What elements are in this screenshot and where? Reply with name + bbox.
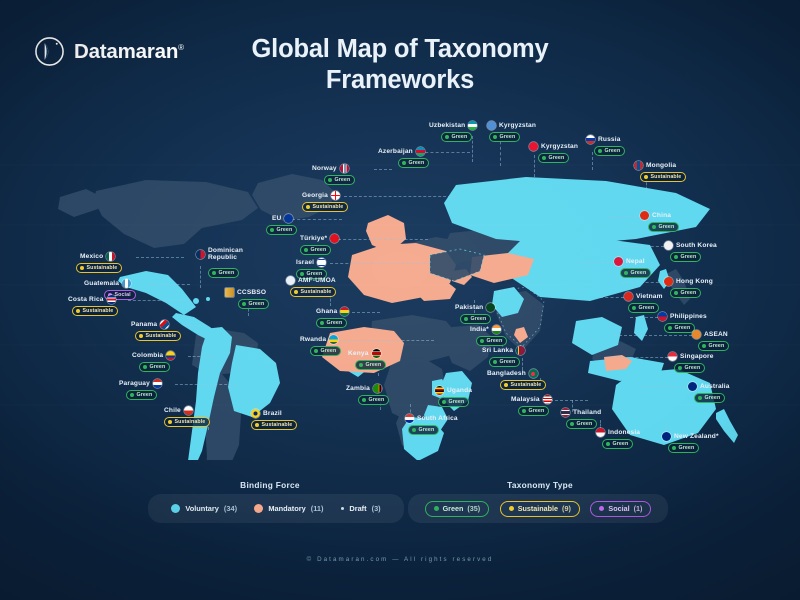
legend-item-green[interactable]: Green (35)	[425, 501, 490, 517]
leader-line	[614, 335, 692, 336]
marker-turkiye[interactable]: Türkiye*	[300, 234, 339, 243]
voluntary-swatch-icon	[171, 504, 180, 513]
tag-green: Green	[538, 153, 569, 163]
norway-flag	[340, 164, 349, 173]
tag-green: Green	[489, 357, 520, 367]
singapore-flag	[668, 352, 677, 361]
marker-label: CCSBSO	[237, 289, 266, 296]
marker-israel[interactable]: Israel	[296, 258, 326, 267]
marker-sri-lanka[interactable]: Sri Lanka	[482, 346, 525, 355]
tag-green: Green	[126, 390, 157, 400]
marker-malaysia[interactable]: Malaysia	[511, 395, 552, 404]
marker-label: Philippines	[670, 313, 707, 320]
marker-mexico[interactable]: Mexico	[80, 252, 115, 261]
marker-bangladesh[interactable]: Bangladesh	[487, 369, 538, 378]
tag-green: Green	[698, 341, 729, 351]
australia-flag	[688, 382, 697, 391]
bangladesh-flag	[529, 369, 538, 378]
tag-green: Green	[300, 245, 331, 255]
marker-label: Mexico	[80, 253, 103, 260]
mexico-flag	[106, 252, 115, 261]
tag-green: Green	[668, 443, 699, 453]
marker-australia[interactable]: Australia	[688, 382, 730, 391]
tag-sustainable: Sustainable	[251, 420, 297, 430]
marker-ccsbso[interactable]: CCSBSO	[225, 288, 266, 297]
legend-count: (35)	[467, 504, 480, 513]
legend-item-mandatory[interactable]: Mandatory (11)	[254, 504, 323, 513]
hong-kong-flag	[664, 277, 673, 286]
marker-label: Kyrgyzstan	[499, 122, 536, 129]
nepal-flag	[614, 257, 623, 266]
marker-label: South Korea	[676, 242, 717, 249]
leader-line	[534, 155, 535, 177]
tag-green: Green	[238, 299, 269, 309]
russia-flag	[586, 135, 595, 144]
mandatory-swatch-icon	[254, 504, 263, 513]
page-title-line1: Global Map of Taxonomy	[252, 35, 549, 63]
marker-label: Sri Lanka	[482, 347, 513, 354]
philippines-flag	[658, 312, 667, 321]
legend-item-draft[interactable]: Draft (3)	[341, 504, 381, 513]
marker-georgia[interactable]: Georgia	[302, 191, 340, 200]
marker-label: Costa Rica	[68, 296, 104, 303]
uzbekistan-flag	[468, 121, 477, 130]
leader-line	[338, 340, 434, 341]
marker-amf-umoa[interactable]: AMF-UMOA	[286, 276, 336, 285]
legend-label: Voluntary	[185, 504, 219, 513]
legend-label: Social	[608, 504, 629, 513]
legend-binding-force: Voluntary (34) Mandatory (11) Draft (3)	[148, 494, 404, 523]
legend-label: Draft	[349, 504, 366, 513]
turkiye-flag	[330, 234, 339, 243]
marker-kyrgyzstan-2[interactable]: Kyrgyzstan	[529, 142, 578, 151]
leader-line	[150, 284, 190, 285]
south-africa-flag	[405, 414, 414, 423]
leader-line	[620, 282, 664, 283]
leader-line	[472, 136, 473, 162]
marker-label: Rwanda	[300, 336, 326, 343]
israel-flag	[317, 258, 326, 267]
tag-green: Green	[139, 362, 170, 372]
leader-line	[330, 263, 430, 264]
marker-vietnam[interactable]: Vietnam	[624, 292, 663, 301]
leader-line	[630, 317, 658, 318]
china-flag	[640, 211, 649, 220]
leader-line	[374, 169, 392, 170]
marker-chile[interactable]: Chile	[164, 406, 193, 415]
legend-item-voluntary[interactable]: Voluntary (34)	[171, 504, 237, 513]
marker-mongolia[interactable]: Mongolia	[634, 161, 676, 170]
tag-green: Green	[594, 146, 625, 156]
marker-label: Guatemala	[84, 280, 119, 287]
marker-paraguay[interactable]: Paraguay	[119, 379, 162, 388]
leader-line	[592, 152, 593, 170]
tag-sustainable: Sustainable	[76, 263, 122, 273]
sri-lanka-flag	[516, 346, 525, 355]
marker-brazil[interactable]: Brazil	[251, 409, 282, 418]
marker-zambia[interactable]: Zambia	[346, 384, 382, 393]
thailand-flag	[561, 408, 570, 417]
marker-label: Mongolia	[646, 162, 676, 169]
chile-flag	[184, 406, 193, 415]
marker-label: Dominican Republic	[208, 248, 254, 262]
marker-label: Uzbekistan	[429, 122, 465, 129]
tag-sustainable: Sustainable	[302, 202, 348, 212]
footer-copyright: © Datamaran.com — All rights reserved	[0, 556, 800, 563]
leader-line	[344, 196, 456, 197]
marker-india[interactable]: India*	[470, 325, 501, 334]
asean-logo	[692, 330, 701, 339]
marker-label: Australia	[700, 383, 730, 390]
tag-green: Green	[358, 395, 389, 405]
legend-count: (11)	[311, 504, 324, 513]
marker-label: Zambia	[346, 385, 370, 392]
leader-line	[338, 239, 428, 240]
leader-line	[292, 219, 342, 220]
legend-label: Green	[443, 504, 464, 513]
marker-kyrgyzstan[interactable]: Kyrgyzstan	[487, 121, 536, 130]
legend-item-social[interactable]: Social (1)	[590, 501, 651, 517]
marker-ghana[interactable]: Ghana	[316, 307, 349, 316]
legend-label: Sustainable	[518, 504, 558, 513]
marker-label: Vietnam	[636, 293, 663, 300]
marker-new-zealand[interactable]: New Zealand*	[662, 432, 719, 441]
marker-guatemala[interactable]: Guatemala	[84, 279, 131, 288]
marker-label: Nepal	[626, 258, 645, 265]
legend-count: (34)	[224, 504, 237, 513]
kyrgyzstan-flag-2	[529, 142, 538, 151]
legend-taxonomy-type-heading: Taxonomy Type	[420, 480, 660, 490]
uganda-flag	[435, 386, 444, 395]
legend-taxonomy-type: Green (35) Sustainable (9) Social (1)	[408, 494, 668, 523]
leader-line	[550, 400, 588, 401]
kyrgyzstan-flag	[487, 121, 496, 130]
eu-flag	[284, 214, 293, 223]
costa-rica-flag	[107, 295, 116, 304]
marker-asean[interactable]: ASEAN	[692, 330, 728, 339]
marker-label: Norway	[312, 165, 337, 172]
indonesia-flag	[596, 428, 605, 437]
tag-green: Green	[460, 314, 491, 324]
amf-umoa-logo	[286, 276, 295, 285]
marker-eu[interactable]: EU	[272, 214, 293, 223]
marker-south-africa[interactable]: South Africa	[405, 414, 458, 423]
tag-sustainable: Sustainable	[640, 172, 686, 182]
poster-root: Datamaran® Global Map of Taxonomy Framew…	[0, 0, 800, 600]
leader-line	[620, 246, 664, 247]
marker-label: Kenya	[348, 350, 369, 357]
leader-line	[608, 216, 642, 217]
marker-uzbekistan[interactable]: Uzbekistan	[429, 121, 477, 130]
tag-green: Green	[438, 397, 469, 407]
tag-green: Green	[628, 303, 659, 313]
zambia-flag	[373, 384, 382, 393]
marker-label: Malaysia	[511, 396, 540, 403]
tag-green: Green	[208, 268, 239, 278]
tag-green: Green	[398, 158, 429, 168]
tag-sustainable: Sustainable	[500, 380, 546, 390]
ccsbso-logo	[225, 288, 234, 297]
marker-thailand[interactable]: Thailand	[561, 408, 601, 417]
tag-green: Green	[674, 363, 705, 373]
marker-azerbaijan[interactable]: Azerbaijan	[378, 147, 425, 156]
tag-green: Green	[355, 360, 386, 370]
marker-label: South Africa	[417, 415, 458, 422]
marker-label: Paraguay	[119, 380, 150, 387]
tag-green: Green	[489, 132, 520, 142]
marker-label: India*	[470, 326, 489, 333]
marker-nepal[interactable]: Nepal	[614, 257, 645, 266]
tag-green: Green	[266, 225, 297, 235]
marker-label: Pakistan	[455, 304, 483, 311]
green-swatch-icon	[434, 506, 439, 511]
paraguay-flag	[153, 379, 162, 388]
colombia-flag	[166, 351, 175, 360]
marker-indonesia[interactable]: Indonesia	[596, 428, 640, 437]
marker-label: EU	[272, 215, 281, 222]
marker-label: China	[652, 212, 671, 219]
leader-line	[600, 297, 624, 298]
marker-label: Ghana	[316, 308, 337, 315]
legend-label: Mandatory	[268, 504, 305, 513]
azerbaijan-flag	[416, 147, 425, 156]
ghana-flag	[340, 307, 349, 316]
brazil-flag	[251, 409, 260, 418]
marker-label: Georgia	[302, 192, 328, 199]
legend-binding-force-heading: Binding Force	[160, 480, 380, 490]
legend-count: (3)	[372, 504, 381, 513]
marker-label: Colombia	[132, 352, 163, 359]
leader-line	[606, 357, 668, 358]
leader-line	[200, 266, 201, 288]
tag-green: Green	[664, 323, 695, 333]
malaysia-flag	[543, 395, 552, 404]
leader-line	[184, 325, 206, 326]
dominican-republic-flag	[196, 250, 205, 259]
leader-line	[640, 387, 688, 388]
legend-item-sustainable[interactable]: Sustainable (9)	[500, 501, 580, 517]
new-zealand-flag	[662, 432, 671, 441]
marker-label: Israel	[296, 259, 314, 266]
tag-green: Green	[316, 318, 347, 328]
marker-label: AMF-UMOA	[298, 277, 336, 284]
marker-colombia[interactable]: Colombia	[132, 351, 175, 360]
marker-label: Azerbaijan	[378, 148, 413, 155]
tag-green: Green	[324, 175, 355, 185]
marker-south-korea[interactable]: South Korea	[664, 241, 717, 250]
tag-green: Green	[476, 336, 507, 346]
tag-green: Green	[670, 288, 701, 298]
tag-green: Green	[310, 346, 341, 356]
marker-label: Indonesia	[608, 429, 640, 436]
marker-hong-kong[interactable]: Hong Kong	[664, 277, 713, 286]
marker-china[interactable]: China	[640, 211, 671, 220]
kenya-flag	[372, 349, 381, 358]
marker-label: Türkiye*	[300, 235, 327, 242]
india-flag	[492, 325, 501, 334]
tag-green: Green	[648, 222, 679, 232]
leader-line	[580, 262, 614, 263]
tag-green: Green	[602, 439, 633, 449]
marker-label: Brazil	[263, 410, 282, 417]
leader-line	[188, 356, 214, 357]
legend-count: (9)	[562, 504, 571, 513]
pakistan-flag	[486, 303, 495, 312]
marker-costa-rica[interactable]: Costa Rica	[68, 295, 116, 304]
georgia-flag	[331, 191, 340, 200]
social-swatch-icon	[599, 506, 604, 511]
tag-green: Green	[566, 419, 597, 429]
guatemala-flag	[122, 279, 131, 288]
draft-swatch-icon	[341, 507, 345, 511]
leader-line	[175, 384, 237, 385]
marker-label: Bangladesh	[487, 370, 526, 377]
tag-green: Green	[441, 132, 472, 142]
marker-label: Hong Kong	[676, 278, 713, 285]
vietnam-flag	[624, 292, 633, 301]
leader-line	[136, 257, 184, 258]
page-title-line2: Frameworks	[0, 65, 800, 96]
marker-russia[interactable]: Russia	[586, 135, 621, 144]
marker-label: Chile	[164, 407, 181, 414]
marker-rwanda[interactable]: Rwanda	[300, 335, 338, 344]
marker-singapore[interactable]: Singapore	[668, 352, 714, 361]
tag-green: Green	[670, 252, 701, 262]
tag-green: Green	[408, 425, 439, 435]
rwanda-flag	[329, 335, 338, 344]
leader-line	[420, 152, 470, 153]
tag-green: Green	[694, 393, 725, 403]
sustainable-swatch-icon	[509, 506, 514, 511]
marker-label: Uganda	[447, 387, 472, 394]
tag-sustainable: Sustainable	[290, 287, 336, 297]
marker-label: Singapore	[680, 353, 714, 360]
marker-label: New Zealand*	[674, 433, 719, 440]
legend-count: (1)	[634, 504, 643, 513]
marker-uganda[interactable]: Uganda	[435, 386, 472, 395]
marker-philippines[interactable]: Philippines	[658, 312, 707, 321]
tag-sustainable: Sustainable	[135, 331, 181, 341]
south-korea-flag	[664, 241, 673, 250]
panama-flag	[160, 320, 169, 329]
marker-label: ASEAN	[704, 331, 728, 338]
marker-dominican-republic[interactable]: Dominican Republic	[196, 248, 254, 262]
tag-sustainable: Sustainable	[72, 306, 118, 316]
marker-label: Thailand	[573, 409, 601, 416]
marker-label: Russia	[598, 136, 621, 143]
leader-line	[128, 300, 190, 301]
marker-norway[interactable]: Norway	[312, 164, 349, 173]
marker-label: Panama	[131, 321, 157, 328]
marker-label: Kyrgyzstan	[541, 143, 578, 150]
leader-line	[352, 312, 380, 313]
tag-green: Green	[620, 268, 651, 278]
tag-sustainable: Sustainable	[164, 417, 210, 427]
marker-pakistan[interactable]: Pakistan	[455, 303, 495, 312]
marker-kenya[interactable]: Kenya	[348, 349, 381, 358]
mongolia-flag	[634, 161, 643, 170]
marker-panama[interactable]: Panama	[131, 320, 169, 329]
tag-green: Green	[518, 406, 549, 416]
page-title: Global Map of Taxonomy Frameworks	[0, 34, 800, 96]
